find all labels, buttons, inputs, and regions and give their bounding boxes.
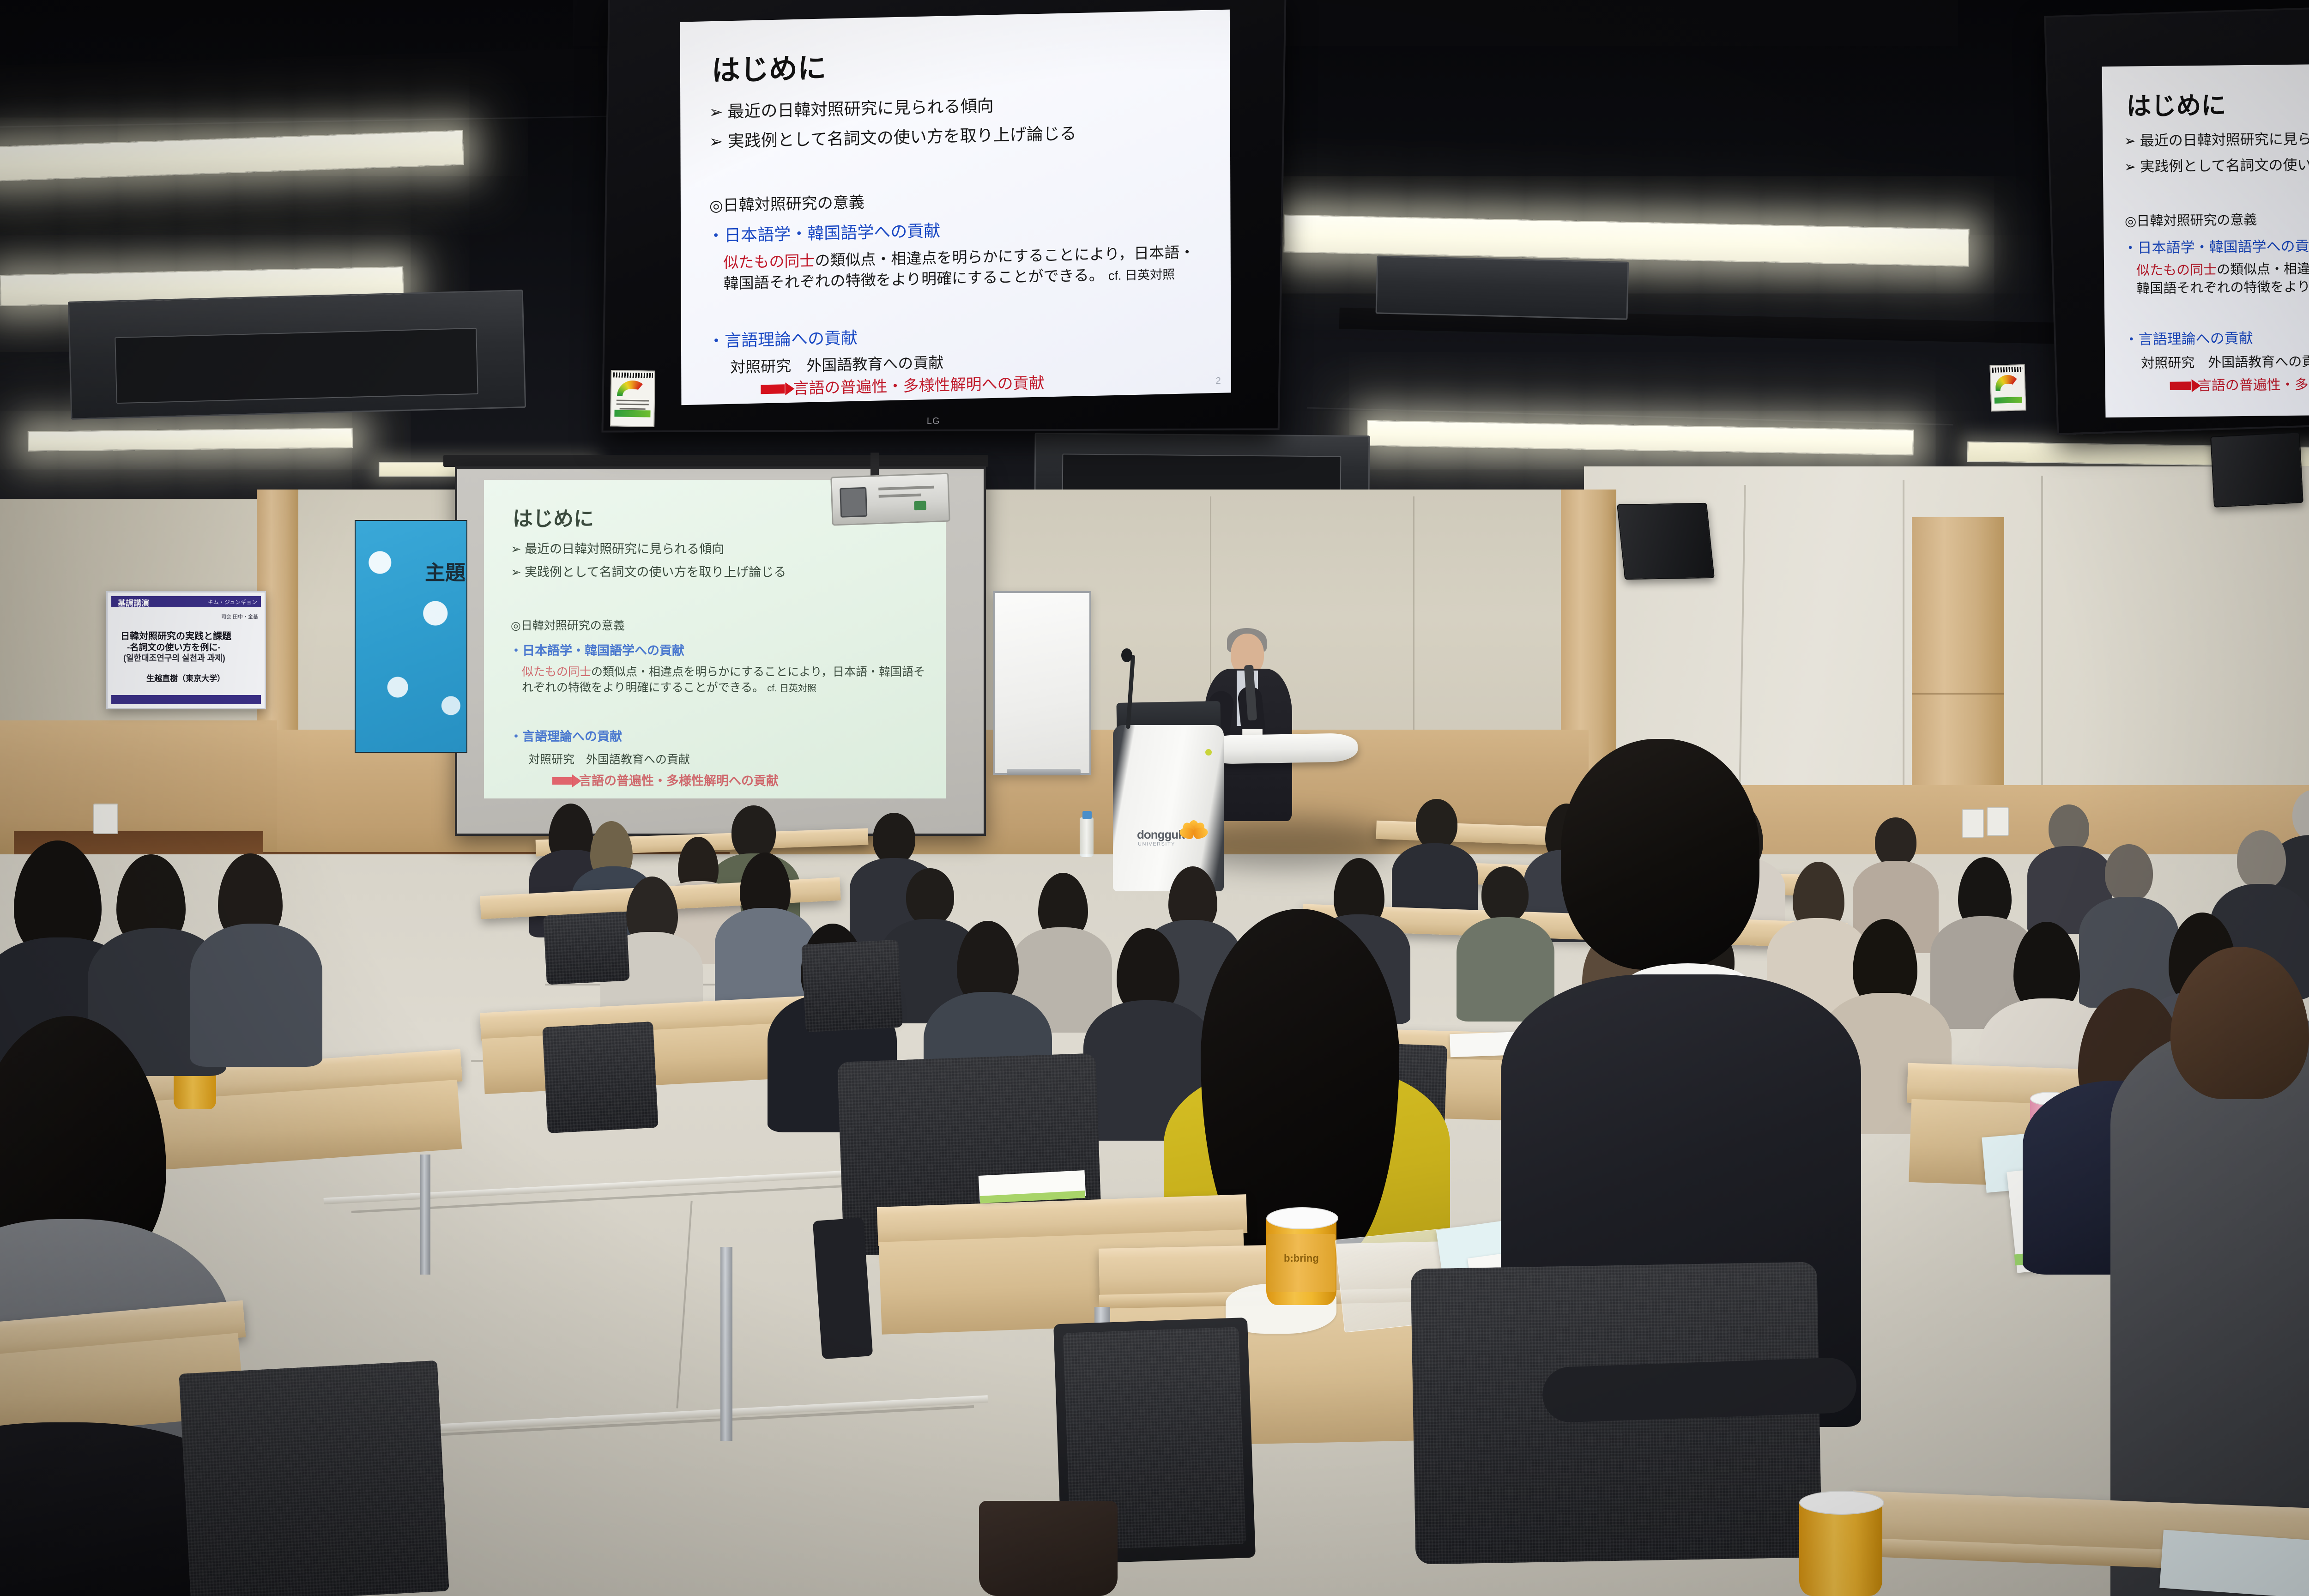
handbag[interactable] [979, 1501, 1118, 1596]
slide-point-1: ・日本語学・韓国語学への貢献 [707, 218, 940, 247]
whiteboard [993, 591, 1091, 775]
slide-section-heading: ◎日韓対照研究の意義 [709, 189, 864, 216]
projector-mount-arm [870, 453, 879, 478]
point-text: 日本語学・韓国語学への貢献 [522, 644, 684, 658]
desk-leg [720, 1247, 732, 1441]
audience-head [873, 813, 915, 864]
whiteboard-marker-tray [1007, 769, 1081, 775]
chair-backrest[interactable] [801, 940, 903, 1033]
audience-head [731, 805, 776, 860]
paragraph-cf: cf. 日英対照 [767, 683, 816, 694]
energy-grade-bar [1994, 397, 2022, 403]
bullet-marker: ➢ [709, 132, 723, 151]
slide-subpoint-2: 対照研究 外国語教育への貢献 [2141, 351, 2309, 372]
bullet-text: 最近の日韓対照研究に見られる傾向 [727, 96, 993, 121]
bullet-marker: ➢ [2124, 133, 2136, 149]
slide-title: はじめに [2126, 85, 2226, 122]
power-outlet[interactable] [1987, 807, 2009, 836]
audience-head [1481, 866, 1529, 923]
handout-paper[interactable] [2159, 1530, 2309, 1596]
slide-conclusion: 言語の普遍性・多様性解明への貢献 [2198, 372, 2309, 394]
slide-bullet: ➢ 最近の日韓対照研究に見られる傾向 [2124, 127, 2309, 150]
water-bottle[interactable] [1080, 817, 1094, 857]
cup-rim [1266, 1207, 1338, 1229]
air-conditioner-vent [115, 328, 478, 404]
poster-line-1: 日韓対照研究の実践と課題 [121, 629, 231, 642]
energy-gauge-icon [617, 380, 649, 396]
air-conditioner-unit [1376, 255, 1629, 320]
barcode-strip [1992, 367, 2023, 373]
dot-marker: ・ [708, 331, 725, 351]
slide-conclusion: 言語の普遍性・多様性解明への貢献 [579, 771, 779, 789]
ceiling-speaker [1617, 503, 1715, 580]
slide-point-2: ・言語理論への貢献 [2124, 326, 2253, 349]
power-outlet[interactable] [93, 804, 118, 834]
slide-sheet: はじめに ➢ 最近の日韓対照研究に見られる傾向 ➢ 実践例として名詞文の使い方を… [2102, 62, 2309, 417]
slide-title: はじめに [712, 44, 826, 89]
paragraph-emphasis: 似たもの同士 [2136, 263, 2217, 278]
session-poster: 基調講演 キム・ジュンギョン 司会 田中・金基 日韓対照研究の実践と課題 -名詞… [106, 591, 266, 709]
slide-point-1: ・日本語学・韓国語学への貢献 [510, 641, 684, 659]
cup-rim [1799, 1491, 1884, 1515]
slide-paragraph-1: 似たもの同士の類似点・相違点を明らかにすることにより，日本語・韓国語それぞれの特… [2136, 258, 2309, 299]
slide-bullet: ➢ 最近の日韓対照研究に見られる傾向 [511, 539, 724, 557]
audience-head [1416, 799, 1457, 850]
paragraph-emphasis: 似たもの同士 [522, 665, 591, 678]
bullet-text: 最近の日韓対照研究に見られる傾向 [525, 542, 724, 556]
poster-tag-right: キム・ジュンギョン [208, 598, 257, 606]
poster-footer-bar [111, 695, 261, 704]
podium-top-surface [1205, 733, 1358, 764]
slide-section-heading: ◎日韓対照研究の意義 [511, 617, 625, 633]
point-text: 日本語学・韓国語学への貢献 [2137, 238, 2309, 256]
chair-backrest[interactable] [179, 1360, 449, 1596]
audience-head [2237, 830, 2286, 889]
paragraph-cf: cf. 日英対照 [1108, 267, 1175, 283]
main-display-monitor: はじめに ➢ 最近の日韓対照研究に見られる傾向 ➢ 実践例として名詞文の使い方を… [601, 0, 1286, 433]
power-outlet[interactable] [1962, 809, 1984, 838]
audience-body [190, 924, 322, 1067]
desk-leg [420, 1155, 430, 1275]
chair-armrest[interactable] [813, 1218, 873, 1360]
poster-tag: 基調講演 [118, 597, 149, 608]
dot-marker: ・ [510, 644, 522, 658]
slide-page-number: 2 [1216, 376, 1221, 387]
energy-rating-label [610, 370, 655, 427]
audience-head [906, 868, 954, 925]
slide-paragraph-1: 似たもの同士の類似点・相違点を明らかにすることにより，日本語・韓国語それぞれの特… [723, 242, 1209, 294]
projector-lens [840, 487, 867, 518]
bullet-text: 実践例として名詞文の使い方を取り上げ論じる [728, 124, 1076, 151]
bullet-text: 実践例として名詞文の使い方を取り上げ論じる [2140, 156, 2309, 175]
audience-head [2105, 844, 2153, 902]
slide-section-heading: ◎日韓対照研究の意義 [2125, 209, 2257, 230]
bullet-marker: ➢ [2124, 158, 2136, 175]
dot-marker: ・ [2123, 240, 2137, 256]
wall-seam [2041, 476, 2043, 817]
audience-head [2049, 804, 2089, 852]
paragraph-emphasis: 似たもの同士 [723, 252, 815, 271]
bottle-cap [1082, 811, 1092, 819]
ceiling-projector [830, 473, 950, 526]
cup-brand-label: b:bring [1284, 1252, 1319, 1264]
energy-grade-bar [615, 410, 651, 417]
chair-backrest[interactable] [542, 1022, 659, 1133]
chair-backrest[interactable] [543, 911, 630, 985]
podium-logo-subtext: UNIVERSITY [1138, 841, 1175, 847]
barcode-strip [613, 372, 653, 378]
bullet-text: 最近の日韓対照研究に見られる傾向 [2140, 130, 2309, 149]
energy-rating-label [1989, 364, 2026, 411]
poster-presenter: 生越直樹（東京大学） [146, 672, 225, 683]
slide-point-2: ・言語理論への貢献 [708, 325, 858, 352]
poster-line-3: (일한대조연구의 실천과 과제) [123, 652, 225, 664]
red-arrow-icon [552, 777, 572, 785]
energy-gauge-icon [1995, 375, 2020, 391]
monitor-brand-label: LG [927, 416, 940, 427]
chair-armrest[interactable] [1541, 1357, 1857, 1423]
point-text: 日本語学・韓国語学への貢献 [724, 221, 940, 245]
dot-marker: ・ [707, 226, 724, 245]
red-arrow-icon [761, 384, 785, 394]
slide-bullet: ➢ 最近の日韓対照研究に見られる傾向 [709, 92, 994, 123]
projection-screen-rail [443, 455, 988, 467]
secondary-display-monitor: はじめに ➢ 最近の日韓対照研究に見られる傾向 ➢ 実践例として名詞文の使い方を… [2044, 3, 2309, 435]
slide-point-1: ・日本語学・韓国語学への貢献 [2123, 234, 2309, 257]
label-text-line [617, 399, 649, 401]
red-arrow-icon [2170, 381, 2191, 390]
event-banner: 主題 [355, 520, 467, 753]
ceiling-light [28, 428, 353, 451]
point-text: 言語理論への貢献 [725, 328, 858, 351]
podium-logo-text: dongguk [1137, 828, 1185, 842]
slide-bullet: ➢ 実践例として名詞文の使い方を取り上げ論じる [709, 120, 1076, 152]
projected-slide: はじめに ➢ 最近の日韓対照研究に見られる傾向 ➢ 実践例として名詞文の使い方を… [484, 480, 946, 798]
lotus-flower-logo [1180, 823, 1207, 846]
slide-paragraph-1: 似たもの同士の類似点・相違点を明らかにすることにより，日本語・韓国語それぞれの特… [522, 665, 928, 695]
slide-subpoint-2: 対照研究 外国語教育への貢献 [528, 750, 690, 767]
dot-marker: ・ [510, 730, 522, 744]
wood-seam [1912, 693, 2004, 695]
label-text-line [617, 403, 649, 405]
lecture-hall-photo: はじめに ➢ 最近の日韓対照研究に見られる傾向 ➢ 実践例として名詞文の使い方を… [0, 0, 2309, 1596]
bullet-text: 実践例として名詞文の使い方を取り上げ論じる [525, 565, 786, 579]
wall-seam [1903, 480, 1904, 831]
slide-bullet: ➢ 実践例として名詞文の使い方を取り上げ論じる [2124, 152, 2309, 176]
bullet-marker: ➢ [511, 542, 521, 556]
point-text: 言語理論への貢献 [2139, 330, 2253, 348]
poster-line-2: -名詞文の使い方を例に- [127, 641, 221, 653]
slide-bullet: ➢ 実践例として名詞文の使い方を取り上げ論じる [511, 562, 786, 580]
poster-kicker: 司会 田中・金基 [221, 613, 258, 620]
banner-text: 主題 [425, 556, 465, 586]
slide-title: はじめに [513, 502, 594, 532]
wall-speaker [2210, 432, 2303, 508]
wall-seam [1413, 496, 1414, 764]
podium: dongguk UNIVERSITY [1113, 725, 1224, 891]
podium-indicator-light [1205, 749, 1212, 756]
audience-head [1875, 817, 1916, 867]
audience-head-foreground [1561, 739, 1759, 970]
bullet-marker: ➢ [709, 102, 723, 121]
slide-sheet: はじめに ➢ 最近の日韓対照研究に見られる傾向 ➢ 実践例として名詞文の使い方を… [680, 10, 1231, 405]
podium-microphone-head [1121, 648, 1132, 662]
dot-marker: ・ [2124, 331, 2139, 347]
bullet-marker: ➢ [511, 565, 521, 579]
slide-point-2: ・言語理論への貢献 [510, 726, 622, 744]
point-text: 言語理論への貢献 [522, 730, 622, 744]
